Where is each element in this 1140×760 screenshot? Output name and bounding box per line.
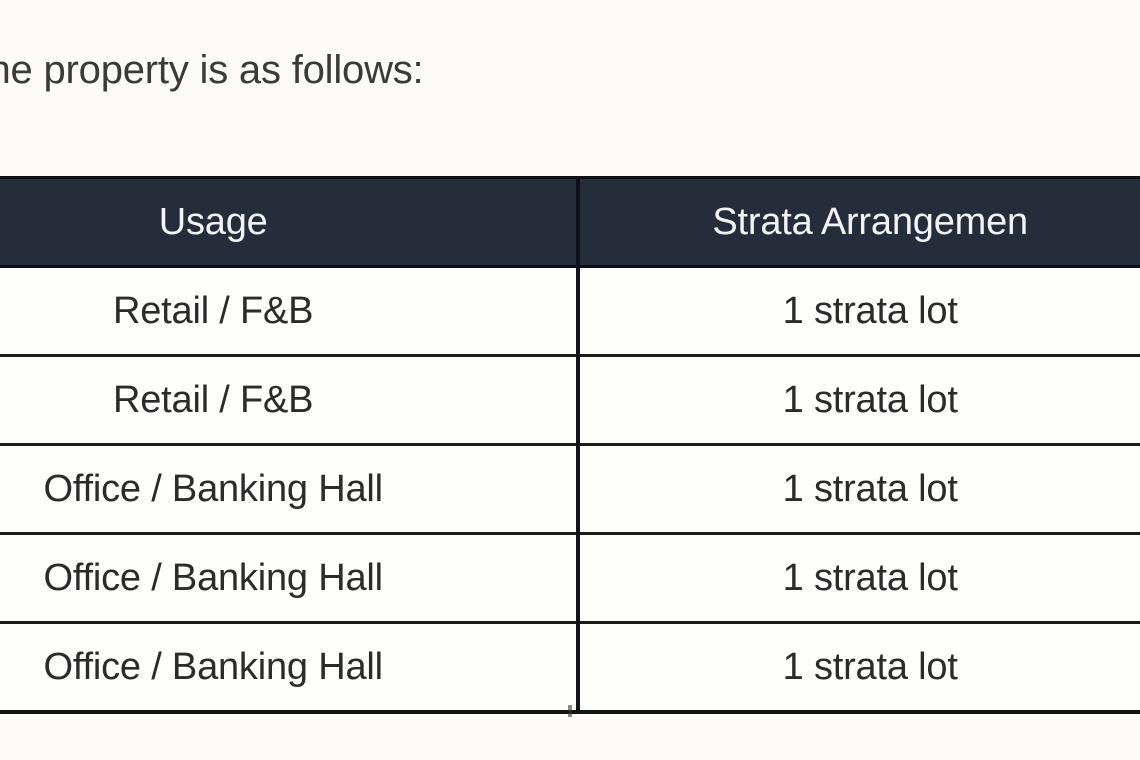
cell-strata: 1 strata lot: [578, 623, 1140, 713]
strata-table-container: Usage Strata Arrangemen Retail / F&B 1 s…: [0, 176, 1140, 714]
cell-usage: Retail / F&B: [0, 356, 578, 445]
cell-strata: 1 strata lot: [578, 356, 1140, 445]
table-row: Office / Banking Hall 1 strata lot: [0, 445, 1140, 534]
table-header-row: Usage Strata Arrangemen: [0, 178, 1140, 267]
table-row: Office / Banking Hall 1 strata lot: [0, 534, 1140, 623]
cell-usage: Office / Banking Hall: [0, 445, 578, 534]
table-body: Retail / F&B 1 strata lot Retail / F&B 1…: [0, 267, 1140, 713]
cell-strata: 1 strata lot: [578, 267, 1140, 356]
table-row: Office / Banking Hall 1 strata lot: [0, 623, 1140, 713]
column-header-usage: Usage: [0, 178, 578, 267]
strata-breakdown-table: Usage Strata Arrangemen Retail / F&B 1 s…: [0, 176, 1140, 714]
cell-usage: Office / Banking Hall: [0, 623, 578, 713]
table-row: Retail / F&B 1 strata lot: [0, 356, 1140, 445]
cell-strata: 1 strata lot: [578, 445, 1140, 534]
table-row: Retail / F&B 1 strata lot: [0, 267, 1140, 356]
intro-paragraph: own of the property is as follows:: [0, 42, 1140, 98]
column-divider-stub: [568, 705, 572, 717]
column-header-strata-arrangement: Strata Arrangemen: [578, 178, 1140, 267]
cell-usage: Retail / F&B: [0, 267, 578, 356]
cell-usage: Office / Banking Hall: [0, 534, 578, 623]
table-header: Usage Strata Arrangemen: [0, 178, 1140, 267]
cell-strata: 1 strata lot: [578, 534, 1140, 623]
